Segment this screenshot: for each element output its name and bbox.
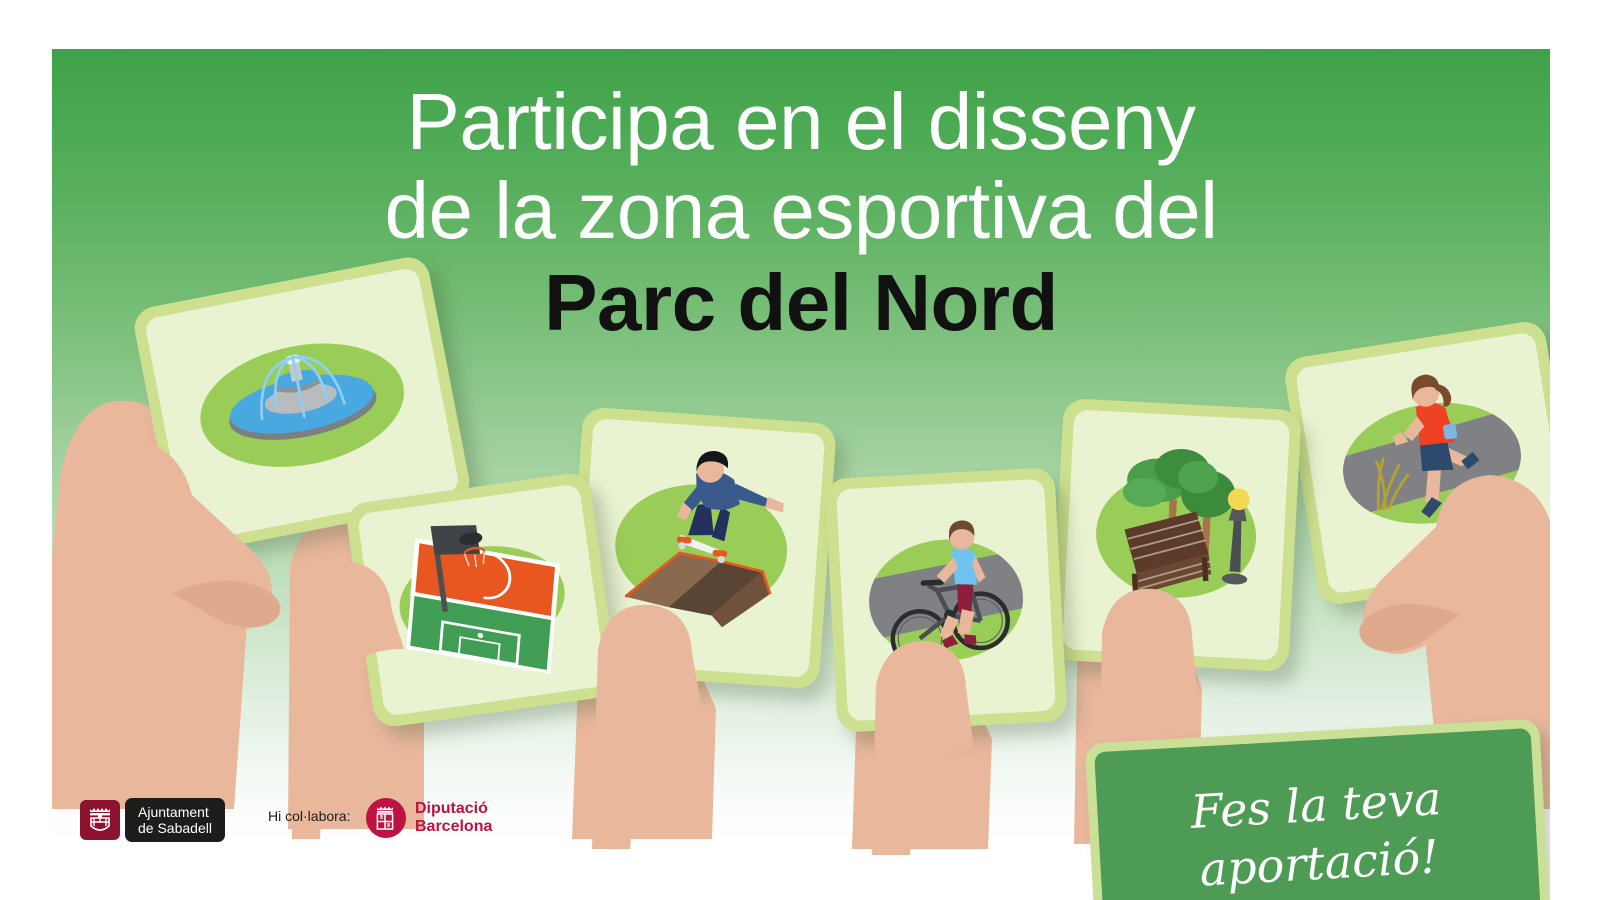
collaborate-label: Hi col·labora:	[268, 808, 350, 824]
diputacio-crest-icon	[366, 798, 406, 838]
green-banner-panel: Participa en el disseny de la zona espor…	[52, 49, 1550, 900]
ajuntament-label: Ajuntament de Sabadell	[125, 798, 225, 842]
crest-svg	[87, 805, 113, 835]
sabadell-crest-icon	[80, 800, 120, 840]
crest-svg	[374, 804, 398, 832]
diputacio-logo[interactable]: Diputació Barcelona	[366, 798, 492, 838]
footer-logos: Ajuntament de Sabadell Hi col·labora: Di…	[0, 786, 1600, 900]
diputacio-label: Diputació Barcelona	[415, 800, 492, 836]
banner-stage: Participa en el disseny de la zona espor…	[0, 0, 1600, 900]
ajuntament-logo[interactable]: Ajuntament de Sabadell	[80, 798, 225, 842]
